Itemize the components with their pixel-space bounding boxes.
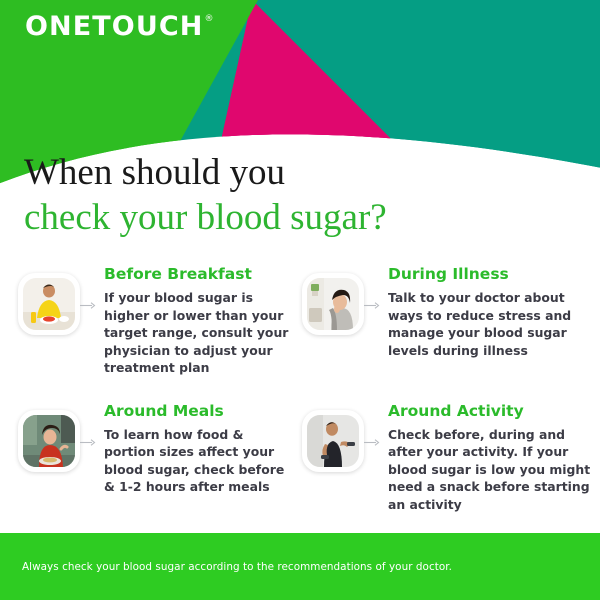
tip-title: During Illness <box>388 264 600 284</box>
logo-wordmark: ONETOUCH <box>25 13 204 40</box>
tip-card-before-breakfast: Before Breakfast If your blood sugar is … <box>0 262 292 377</box>
thumb-wrap <box>302 410 364 472</box>
headline-line-2: check your blood sugar? <box>24 195 387 240</box>
tip-text: Before Breakfast If your blood sugar is … <box>104 262 292 377</box>
tip-text: During Illness Talk to your doctor about… <box>388 262 600 359</box>
man-exercising-photo <box>307 415 359 467</box>
tip-title: Before Breakfast <box>104 264 292 284</box>
woman-eating-meal-photo <box>23 415 75 467</box>
tip-thumbnail <box>302 273 364 335</box>
tip-body: Talk to your doctor about ways to reduce… <box>388 289 600 359</box>
infographic-poster: ONETOUCH ® When should you check your bl… <box>0 0 600 600</box>
tip-text: Around Meals To learn how food & portion… <box>104 399 292 496</box>
connector-arrow-icon <box>364 301 380 310</box>
tip-card-around-meals: Around Meals To learn how food & portion… <box>0 399 292 514</box>
tip-thumbnail <box>302 410 364 472</box>
tip-card-around-activity: Around Activity Check before, during and… <box>292 399 600 514</box>
page-title: When should you check your blood sugar? <box>24 150 387 240</box>
tip-title: Around Activity <box>388 401 600 421</box>
tips-row-2: Around Meals To learn how food & portion… <box>0 399 600 514</box>
tips-row-1: Before Breakfast If your blood sugar is … <box>0 262 600 377</box>
connector-arrow-icon <box>80 301 96 310</box>
connector-arrow-icon <box>364 438 380 447</box>
man-eating-breakfast-photo <box>23 278 75 330</box>
thumb-wrap <box>18 273 80 335</box>
tip-card-during-illness: During Illness Talk to your doctor about… <box>292 262 600 377</box>
headline-line-1: When should you <box>24 150 387 195</box>
thumb-wrap <box>302 273 364 335</box>
tip-text: Around Activity Check before, during and… <box>388 399 600 514</box>
footer-disclaimer: Always check your blood sugar according … <box>0 561 452 573</box>
tip-title: Around Meals <box>104 401 292 421</box>
thumb-wrap <box>18 410 80 472</box>
tip-body: Check before, during and after your acti… <box>388 426 600 514</box>
footer-bar: Always check your blood sugar according … <box>0 533 600 600</box>
tip-thumbnail <box>18 273 80 335</box>
tip-body: If your blood sugar is higher or lower t… <box>104 289 292 377</box>
connector-arrow-icon <box>80 438 96 447</box>
woman-feeling-unwell-photo <box>307 278 359 330</box>
tips-grid: Before Breakfast If your blood sugar is … <box>0 262 600 513</box>
onetouch-logo: ONETOUCH ® <box>25 13 214 40</box>
registered-trademark-icon: ® <box>205 15 214 24</box>
tip-body: To learn how food & portion sizes affect… <box>104 426 292 496</box>
tip-thumbnail <box>18 410 80 472</box>
